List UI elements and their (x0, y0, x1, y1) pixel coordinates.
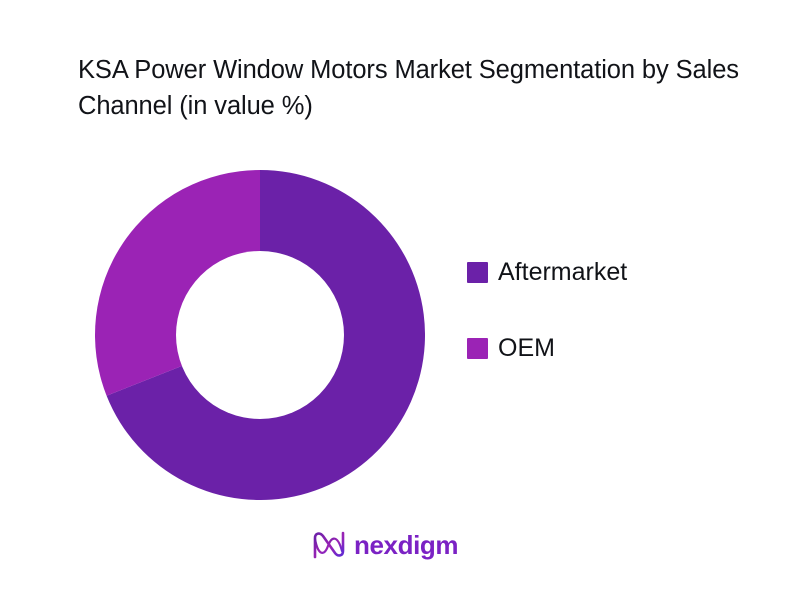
legend-swatch-icon-oem (467, 338, 488, 359)
legend-swatch-icon-aftermarket (467, 262, 488, 283)
nexdigm-wave-n-icon (311, 530, 345, 560)
donut-center-hole (176, 251, 344, 419)
brand-logo: nexdigm (311, 527, 458, 563)
legend-item-aftermarket[interactable]: Aftermarket (467, 255, 747, 289)
donut-chart (95, 170, 425, 500)
brand-wordmark: nexdigm (354, 530, 458, 560)
legend-label-aftermarket: Aftermarket (498, 258, 627, 286)
chart-legend: Aftermarket OEM (467, 255, 747, 407)
legend-label-oem: OEM (498, 334, 555, 362)
legend-item-oem[interactable]: OEM (467, 331, 747, 365)
donut-chart-svg (95, 170, 425, 500)
chart-title: KSA Power Window Motors Market Segmentat… (78, 52, 768, 124)
chart-canvas: KSA Power Window Motors Market Segmentat… (0, 0, 800, 600)
